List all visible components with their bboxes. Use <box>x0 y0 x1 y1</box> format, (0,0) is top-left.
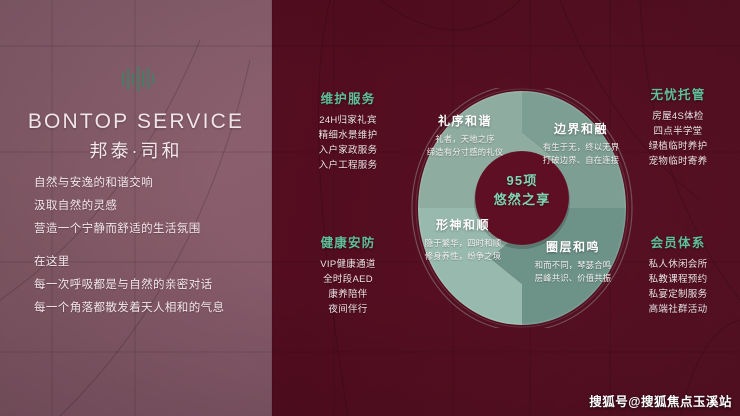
service-item: 夜间伴行 <box>300 302 396 317</box>
quadrant-title: 边界和融 <box>522 120 640 137</box>
service-item: 康养陪伴 <box>300 287 396 302</box>
service-group-title: 无忧托管 <box>630 84 726 103</box>
quadrant-line: 隐于繁华，四时和顺 <box>404 237 522 250</box>
tagline-line: 营造一个宁静而舒适的生活氛围 <box>34 218 260 241</box>
quadrant-line: 打破边界、自在连接 <box>522 154 640 167</box>
service-item: 房屋4S体检 <box>630 109 726 124</box>
service-item: 宠物临时寄养 <box>630 154 726 169</box>
quadrant-title: 形神和顺 <box>404 216 522 233</box>
service-item: 入户工程服务 <box>300 158 396 173</box>
tagline-line: 在这里 <box>34 251 260 274</box>
service-item: VIP健康通道 <box>300 257 396 272</box>
tagline-line: 汲取自然的灵感 <box>34 195 260 218</box>
quadrant-xingshen: 形神和顺 隐于繁华，四时和顺 修身养性，纷争之境 <box>404 216 522 263</box>
quadrant-line: 修身养性，纷争之境 <box>404 250 522 263</box>
service-group-weihu: 维护服务 24H归家礼宾 精细水景维护 入户家政服务 入户工程服务 <box>300 88 396 173</box>
diagram-core-label: 95项 悠然之享 <box>457 171 587 209</box>
tagline-line: 每一次呼吸都是与自然的亲密对话 <box>34 274 260 297</box>
quadrant-bianjie: 边界和融 有生于无，终以无界 打破边界、自在连接 <box>522 120 640 167</box>
brand-name-cn: 邦泰·司和 <box>0 137 272 163</box>
service-item: 私教课程预约 <box>630 272 726 287</box>
quadrant-line: 和而不同，琴瑟合鸣 <box>514 259 632 272</box>
service-group-jiankang: 健康安防 VIP健康通道 全时段AED 康养陪伴 夜间伴行 <box>300 232 396 317</box>
service-item: 入户家政服务 <box>300 143 396 158</box>
service-item: 高端社群活动 <box>630 302 726 317</box>
core-subtitle: 悠然之享 <box>457 190 587 209</box>
service-group-huiyuan: 会员体系 私人休闲会所 私教课程预约 私宴定制服务 高端社群活动 <box>630 232 726 317</box>
quadrant-title: 圈层和鸣 <box>514 238 632 255</box>
service-item: 私宴定制服务 <box>630 287 726 302</box>
service-item: 全时段AED <box>300 272 396 287</box>
tagline-line: 自然与安逸的和谐交响 <box>34 172 260 195</box>
service-item: 私人休闲会所 <box>630 257 726 272</box>
brand-name-en: BONTOP SERVICE <box>0 110 272 134</box>
tagline-spacer <box>34 241 260 251</box>
service-item: 24H归家礼宾 <box>300 113 396 128</box>
slide-root: BONTOP SERVICE 邦泰·司和 自然与安逸的和谐交响 汲取自然的灵感 … <box>0 0 740 416</box>
service-group-title: 会员体系 <box>630 232 726 251</box>
watermark-text: 搜狐号@搜狐焦点玉溪站 <box>589 391 732 410</box>
service-group-tuoguan: 无忧托管 房屋4S体检 四点半学堂 绿植临时养护 宠物临时寄养 <box>630 84 726 169</box>
quadrant-line: 礼者，天地之序 <box>406 133 524 146</box>
quadrant-line: 有生于无，终以无界 <box>522 141 640 154</box>
core-count: 95项 <box>457 171 587 190</box>
service-group-title: 健康安防 <box>300 232 396 251</box>
service-item: 精细水景维护 <box>300 128 396 143</box>
quadrant-title: 礼序和谐 <box>406 112 524 129</box>
bar-mark-icon <box>120 66 158 92</box>
service-item: 绿植临时养护 <box>630 139 726 154</box>
service-group-title: 维护服务 <box>300 88 396 107</box>
quadrant-lixu: 礼序和谐 礼者，天地之序 缔造有分寸感的礼仪 <box>406 112 524 159</box>
brand-tagline: 自然与安逸的和谐交响 汲取自然的灵感 营造一个宁静而舒适的生活氛围 在这里 每一… <box>34 172 260 320</box>
tagline-line: 每一个角落都散发着天人相和的气息 <box>34 297 260 320</box>
service-wheel-diagram: 礼序和谐 礼者，天地之序 缔造有分寸感的礼仪 边界和融 有生于无，终以无界 打破… <box>404 88 640 328</box>
service-item: 四点半学堂 <box>630 124 726 139</box>
quadrant-quanceng: 圈层和鸣 和而不同，琴瑟合鸣 层峰共识、价值共振 <box>514 238 632 285</box>
quadrant-line: 层峰共识、价值共振 <box>514 272 632 285</box>
quadrant-line: 缔造有分寸感的礼仪 <box>406 146 524 159</box>
